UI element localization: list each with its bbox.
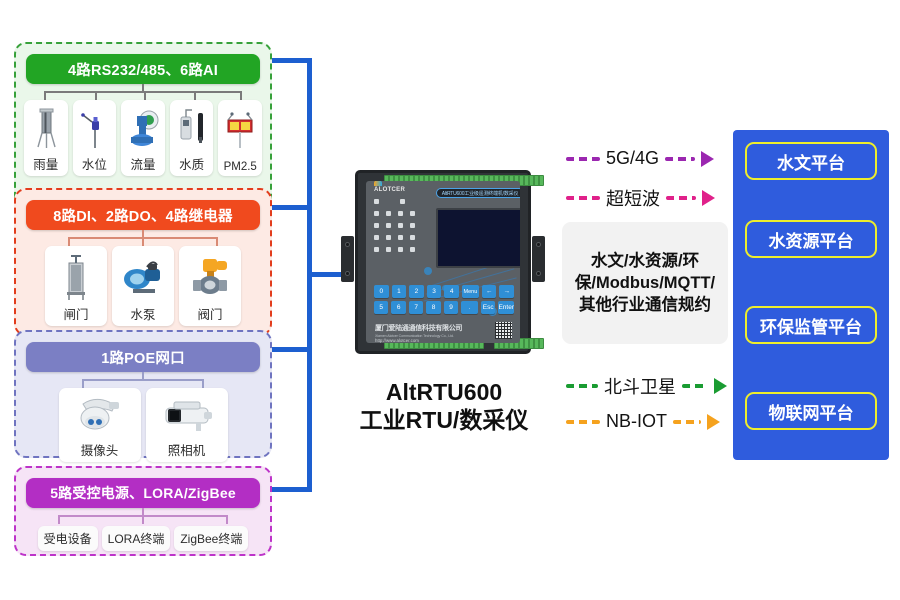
key-1[interactable]: 1 (392, 285, 407, 298)
io-group-lora-header: 5路受控电源、LORA/ZigBee (26, 478, 260, 508)
device-label: 摄像头 (81, 439, 119, 459)
key-left-arrow[interactable]: ← (482, 285, 497, 298)
io-group-lora: 5路受控电源、LORA/ZigBee 受电设备 LORA终端 ZigBee终端 (14, 466, 272, 556)
alotcer-logo-icon (374, 181, 382, 186)
rtu-front-panel: ALOTCER AltRTU600工业级遥测终端机/数采仪 (366, 181, 520, 343)
mounting-bracket-right (532, 236, 545, 282)
rtu-lcd-screen (436, 208, 520, 268)
led-row (374, 199, 430, 204)
relay2-led (398, 247, 403, 252)
device-card-flow-meter[interactable]: 流量 (121, 100, 165, 176)
led-row (374, 247, 430, 252)
device-card-water-level[interactable]: 水位 (73, 100, 117, 176)
dashed-line (566, 384, 598, 388)
key-dot[interactable]: . (461, 301, 478, 314)
device-label: 照相机 (168, 439, 206, 459)
device-card-valve[interactable]: 阀门 (179, 246, 241, 326)
device-label: 雨量 (33, 153, 58, 173)
keypad-row: 5 6 7 8 9 . Esc Enter (374, 301, 514, 314)
io-group-poe-bracket (16, 372, 270, 388)
led-row (374, 223, 430, 228)
device-card-sluice-gate[interactable]: 闸门 (45, 246, 107, 326)
device-label: 流量 (130, 153, 155, 173)
mounting-bracket-left (341, 236, 354, 282)
rtu-keypad[interactable]: 0 1 2 3 4 Menu ← → 5 6 7 8 9 (374, 285, 514, 317)
dashed-line (666, 196, 696, 200)
rain-gauge-icon (26, 104, 66, 153)
qr-code-icon (495, 322, 512, 339)
dashed-line (665, 157, 695, 161)
io-group-poe-header: 1路POE网口 (26, 342, 260, 372)
io-group-ai-header: 4路RS232/485、6路AI (26, 54, 260, 84)
pm25-monitor-icon (220, 104, 260, 160)
protocol-label: 超短波 (606, 185, 660, 211)
device-label: 水泵 (130, 303, 155, 323)
led-row (374, 211, 430, 216)
device-card-bullet-camera[interactable]: 照相机 (146, 388, 228, 462)
relay1-led (386, 247, 391, 252)
di0-led (374, 223, 379, 228)
device-card-dome-camera[interactable]: 摄像头 (59, 388, 141, 462)
io-group-ai-bracket (16, 84, 270, 100)
key-4[interactable]: 4 (444, 285, 459, 298)
din1-led (386, 211, 391, 216)
arrow-head-icon (707, 414, 720, 430)
din0-led (374, 211, 379, 216)
relay3-led (410, 247, 415, 252)
device-card-water-pump[interactable]: 水泵 (112, 246, 174, 326)
protocol-link-uhf: 超短波 (566, 185, 715, 211)
water-quality-probe-icon (172, 104, 212, 153)
key-0[interactable]: 0 (374, 285, 389, 298)
platform-item-environmental[interactable]: 环保监管平台 (745, 306, 877, 344)
rtu-title-line1: AltRTU600 (337, 378, 551, 406)
brand-name: ALOTCER (374, 187, 405, 193)
protocol-label: NB-IOT (606, 411, 667, 432)
io-group-poe-device-list: 摄像头 照相机 (24, 388, 262, 462)
device-label: PM2.5 (224, 160, 257, 173)
protocol-link-beidou: 北斗卫星 (566, 373, 727, 399)
flow-meter-icon (123, 104, 163, 153)
io-group-poe: 1路POE网口 摄像头 (14, 330, 272, 458)
di4-led (374, 235, 379, 240)
run-led (398, 211, 403, 216)
device-card-water-quality[interactable]: 水质 (170, 100, 214, 176)
rtu-nameplate: AltRTU600工业级遥测终端机/数采仪 (436, 188, 520, 198)
device-chip-lora-terminal[interactable]: LORA终端 (102, 526, 171, 551)
key-5[interactable]: 5 (374, 301, 388, 314)
protocol-link-5g4g: 5G/4G (566, 148, 714, 169)
water-pump-icon (114, 250, 172, 303)
protocol-label: 北斗卫星 (604, 373, 676, 399)
device-chip-powered-device[interactable]: 受电设备 (38, 526, 98, 551)
rtu-chassis: ALOTCER AltRTU600工业级遥测终端机/数采仪 (355, 170, 531, 354)
key-8[interactable]: 8 (426, 301, 440, 314)
di3-led (410, 223, 415, 228)
protocol-spec-box: 水文/水资源/环保/Modbus/MQTT/其他行业通信规约 (562, 222, 728, 344)
key-menu[interactable]: Menu (462, 285, 479, 298)
manufacturer-name-cn: 厦门爱陆通通信科技有限公司 (375, 323, 462, 333)
status-led-array (374, 199, 430, 259)
arrow-head-icon (702, 190, 715, 206)
io-group-dio-header: 8路DI、2路DO、4路继电器 (26, 200, 260, 230)
online-led (400, 199, 405, 204)
key-right-arrow[interactable]: → (499, 285, 514, 298)
di1-led (386, 223, 391, 228)
key-3[interactable]: 3 (427, 285, 442, 298)
manufacturer-website: http://www.alotcer.com (375, 338, 419, 343)
io-group-dio-device-list: 闸门 水泵 (24, 246, 262, 326)
bullet-camera-icon (148, 392, 226, 439)
diagram-canvas: 4路RS232/485、6路AI 雨量 (0, 0, 900, 600)
sluice-gate-icon (47, 250, 105, 303)
device-label: 水质 (179, 153, 204, 173)
rtu-device-illustration: ALOTCER AltRTU600工业级遥测终端机/数采仪 (337, 158, 549, 366)
di7-led (410, 235, 415, 240)
platform-panel: 水文平台 水资源平台 环保监管平台 物联网平台 (733, 130, 889, 460)
arrow-head-icon (701, 151, 714, 167)
device-label: 闸门 (63, 303, 88, 323)
di5-led (386, 235, 391, 240)
dashed-line (673, 420, 701, 424)
device-card-rain-gauge[interactable]: 雨量 (24, 100, 68, 176)
device-label: 水位 (82, 153, 107, 173)
io-group-lora-device-list: 受电设备 LORA终端 ZigBee终端 (24, 526, 262, 551)
key-6[interactable]: 6 (391, 301, 405, 314)
io-group-dio-bracket (16, 230, 270, 246)
keypad-row: 0 1 2 3 4 Menu ← → (374, 285, 514, 298)
device-chip-zigbee-terminal[interactable]: ZigBee终端 (174, 526, 248, 551)
io-group-dio: 8路DI、2路DO、4路继电器 (14, 188, 272, 336)
key-esc[interactable]: Esc (481, 301, 495, 314)
key-enter[interactable]: Enter (498, 301, 514, 314)
io-group-lora-bracket (16, 508, 270, 524)
pcb-node (424, 267, 432, 275)
di6-led (398, 235, 403, 240)
device-label: 阀门 (197, 303, 222, 323)
key-2[interactable]: 2 (409, 285, 424, 298)
ptz-dome-camera-icon (61, 392, 139, 439)
rtu-title-line2: 工业RTU/数采仪 (337, 406, 551, 434)
dashed-line (566, 196, 600, 200)
motorized-valve-icon (181, 250, 239, 303)
arrow-head-icon (714, 378, 727, 394)
protocol-label: 5G/4G (606, 148, 659, 169)
device-card-pm25[interactable]: PM2.5 (218, 100, 262, 176)
protocol-link-nbiot: NB-IOT (566, 411, 720, 432)
io-group-ai-device-list: 雨量 水位 (24, 100, 262, 176)
dashed-line (566, 157, 600, 161)
water-level-sensor-icon (75, 104, 115, 153)
di2-led (398, 223, 403, 228)
reset-led (410, 211, 415, 216)
platform-item-iot[interactable]: 物联网平台 (745, 392, 877, 430)
power-led (374, 199, 379, 204)
rtu-title: AltRTU600 工业RTU/数采仪 (337, 378, 551, 434)
relay0-led (374, 247, 379, 252)
key-9[interactable]: 9 (444, 301, 458, 314)
dashed-line (566, 420, 600, 424)
platform-item-water-resources[interactable]: 水资源平台 (745, 220, 877, 258)
platform-item-hydrology[interactable]: 水文平台 (745, 142, 877, 180)
led-row (374, 235, 430, 240)
key-7[interactable]: 7 (409, 301, 423, 314)
dashed-line (682, 384, 708, 388)
